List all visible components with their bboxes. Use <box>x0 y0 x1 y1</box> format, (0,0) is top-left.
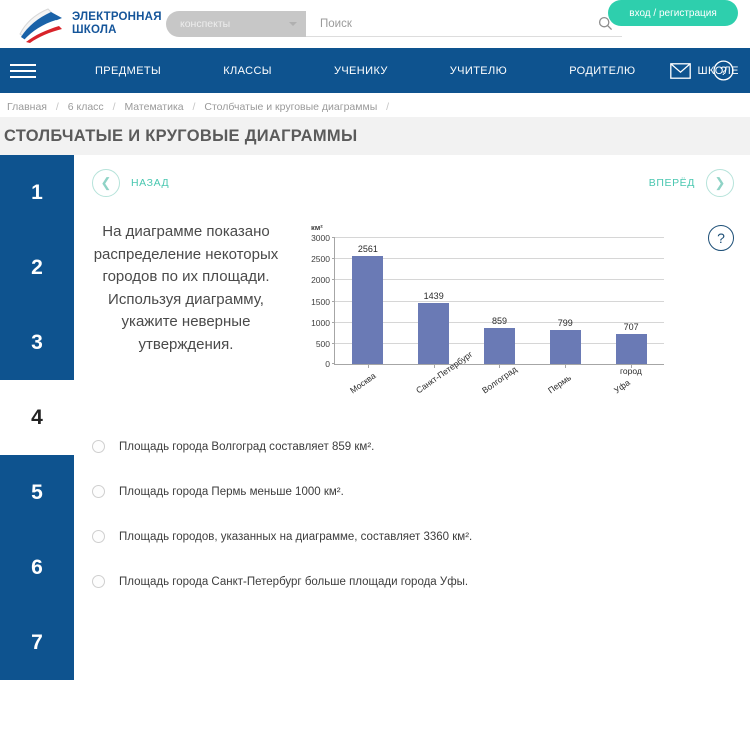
x-label-saint-petersburg: Санкт-Петербург <box>400 369 466 399</box>
svg-text:?: ? <box>720 64 727 78</box>
sidebar-item-5[interactable]: 5 <box>0 455 74 530</box>
y-tick-2000: 2000 <box>311 275 330 285</box>
bar-saint-petersburg: 1439 <box>418 303 449 364</box>
nav-items: ПРЕДМЕТЫ КЛАССЫ УЧЕНИКУ УЧИТЕЛЮ РОДИТЕЛЮ… <box>64 65 750 77</box>
nav-item-parent[interactable]: РОДИТЕЛЮ <box>538 65 666 77</box>
chart-canvas: км² 3000 2500 2000 1500 1000 500 0 <box>298 223 670 398</box>
y-tick-1000: 1000 <box>311 318 330 328</box>
hint-button[interactable]: ? <box>708 225 734 251</box>
y-tick-0: 0 <box>325 359 330 369</box>
radio-button-2[interactable] <box>92 485 105 498</box>
answer-option-4[interactable]: Площадь города Санкт-Петербург больше пл… <box>92 559 734 604</box>
sidebar-item-4[interactable]: 4 <box>0 380 74 455</box>
step-navigation: ❮ НАЗАД ВПЕРЁД ❯ <box>92 155 734 197</box>
answer-label-1: Площадь города Волгоград составляет 859 … <box>119 441 374 453</box>
sidebar-item-6[interactable]: 6 <box>0 530 74 605</box>
breadcrumb-separator: / <box>386 101 389 113</box>
login-register-button[interactable]: вход / регистрация <box>608 0 738 26</box>
bar-cell-saint-petersburg: 1439 <box>401 237 467 364</box>
y-tick-1500: 1500 <box>311 297 330 307</box>
question-block: ? км² 3000 2500 2000 1500 1000 500 0 <box>92 221 734 356</box>
logo-line-2: ШКОЛА <box>72 24 162 37</box>
forward-button-label: ВПЕРЁД <box>649 177 695 189</box>
page-title-bar: СТОЛБЧАТЫЕ И КРУГОВЫЕ ДИАГРАММЫ <box>0 117 750 155</box>
x-label-moscow: Москва <box>334 369 400 399</box>
chart-y-axis-label: км² <box>311 223 323 232</box>
forward-button[interactable]: ВПЕРЁД ❯ <box>649 169 734 197</box>
bar-chart: км² 3000 2500 2000 1500 1000 500 0 <box>298 223 670 398</box>
answer-options: Площадь города Волгоград составляет 859 … <box>92 402 734 604</box>
task-sidebar: 1 2 3 4 5 6 7 <box>0 155 74 735</box>
page-title: СТОЛБЧАТЫЕ И КРУГОВЫЕ ДИАГРАММЫ <box>4 127 357 146</box>
category-select[interactable]: конспекты <box>166 11 306 37</box>
help-icon[interactable]: ? <box>713 60 734 81</box>
sidebar-item-3[interactable]: 3 <box>0 305 74 380</box>
breadcrumb-item-subject[interactable]: Математика <box>124 101 183 113</box>
answer-option-3[interactable]: Площадь городов, указанных на диаграмме,… <box>92 514 734 559</box>
search-placeholder: Поиск <box>320 18 352 30</box>
answer-option-2[interactable]: Площадь города Пермь меньше 1000 км². <box>92 469 734 514</box>
radio-button-4[interactable] <box>92 575 105 588</box>
back-button[interactable]: ❮ НАЗАД <box>92 169 169 197</box>
hamburger-menu-icon[interactable] <box>10 64 36 78</box>
bar-value-volgograd: 859 <box>492 316 507 326</box>
bar-ufa: 707 <box>616 334 647 364</box>
nav-item-student[interactable]: УЧЕНИКУ <box>303 65 419 77</box>
bar-value-perm: 799 <box>558 318 573 328</box>
y-tick-3000: 3000 <box>311 233 330 243</box>
breadcrumb-item-topic[interactable]: Столбчатые и круговые диаграммы <box>204 101 377 113</box>
bar-value-moscow: 2561 <box>358 244 378 254</box>
sidebar-item-2[interactable]: 2 <box>0 230 74 305</box>
sidebar-item-1[interactable]: 1 <box>0 155 74 230</box>
chart-x-axis-title: город <box>620 366 642 376</box>
bar-cell-moscow: 2561 <box>335 237 401 364</box>
login-register-label: вход / регистрация <box>629 8 717 19</box>
nav-right-icons: ? <box>670 60 734 81</box>
bar-cell-volgograd: 859 <box>467 237 533 364</box>
answer-option-1[interactable]: Площадь города Волгоград составляет 859 … <box>92 424 734 469</box>
breadcrumb-bar: Главная / 6 класс / Математика / Столбча… <box>0 93 750 117</box>
search-group: конспекты Поиск <box>166 0 622 48</box>
task-content: ❮ НАЗАД ВПЕРЁД ❯ ? км² 3000 2500 2000 <box>74 155 750 735</box>
x-label-volgograd: Волгоград <box>466 369 532 399</box>
radio-button-3[interactable] <box>92 530 105 543</box>
y-tick-2500: 2500 <box>311 254 330 264</box>
chart-x-labels: Москва Санкт-Петербург Волгоград Пермь У… <box>334 369 664 399</box>
bar-value-saint-petersburg: 1439 <box>424 291 444 301</box>
y-tick-500: 500 <box>316 339 330 349</box>
logo-line-1: ЭЛЕКТРОННАЯ <box>72 11 162 24</box>
nav-item-classes[interactable]: КЛАССЫ <box>192 65 303 77</box>
chevron-down-icon <box>289 22 297 26</box>
bar-cell-perm: 799 <box>532 237 598 364</box>
answer-label-4: Площадь города Санкт-Петербург больше пл… <box>119 576 468 588</box>
back-button-label: НАЗАД <box>131 177 169 189</box>
breadcrumb-separator: / <box>56 101 59 113</box>
nav-item-subjects[interactable]: ПРЕДМЕТЫ <box>64 65 192 77</box>
breadcrumb-item-grade[interactable]: 6 класс <box>68 101 104 113</box>
bar-moscow: 2561 <box>352 256 383 364</box>
chevron-right-icon: ❯ <box>706 169 734 197</box>
breadcrumb-separator: / <box>193 101 196 113</box>
x-label-perm: Пермь <box>532 369 598 399</box>
body-area: 1 2 3 4 5 6 7 ❮ НАЗАД ВПЕРЁД ❯ ? км² <box>0 155 750 735</box>
chart-bars: 2561 1439 <box>335 237 664 364</box>
bar-value-ufa: 707 <box>624 322 639 332</box>
bar-volgograd: 859 <box>484 328 515 364</box>
sidebar-item-7[interactable]: 7 <box>0 605 74 680</box>
search-input[interactable]: Поиск <box>306 11 588 37</box>
site-header: ЭЛЕКТРОННАЯ ШКОЛА конспекты Поиск вход /… <box>0 0 750 48</box>
answer-label-2: Площадь города Пермь меньше 1000 км². <box>119 486 344 498</box>
bar-perm: 799 <box>550 330 581 364</box>
breadcrumb-item-home[interactable]: Главная <box>7 101 47 113</box>
nav-item-teacher[interactable]: УЧИТЕЛЮ <box>419 65 538 77</box>
breadcrumb: Главная / 6 класс / Математика / Столбча… <box>4 101 750 113</box>
radio-button-1[interactable] <box>92 440 105 453</box>
answer-label-3: Площадь городов, указанных на диаграмме,… <box>119 531 472 543</box>
logo-text: ЭЛЕКТРОННАЯ ШКОЛА <box>72 11 162 37</box>
bar-cell-ufa: 707 <box>598 237 664 364</box>
mail-icon[interactable] <box>670 63 691 79</box>
logo[interactable]: ЭЛЕКТРОННАЯ ШКОЛА <box>18 4 162 44</box>
breadcrumb-separator: / <box>113 101 116 113</box>
chart-plot-area: 3000 2500 2000 1500 1000 500 0 2561 <box>334 237 664 365</box>
main-navigation: ПРЕДМЕТЫ КЛАССЫ УЧЕНИКУ УЧИТЕЛЮ РОДИТЕЛЮ… <box>0 48 750 93</box>
chevron-left-icon: ❮ <box>92 169 120 197</box>
category-select-value: конспекты <box>180 18 230 30</box>
logo-book-flag-icon <box>18 4 64 44</box>
